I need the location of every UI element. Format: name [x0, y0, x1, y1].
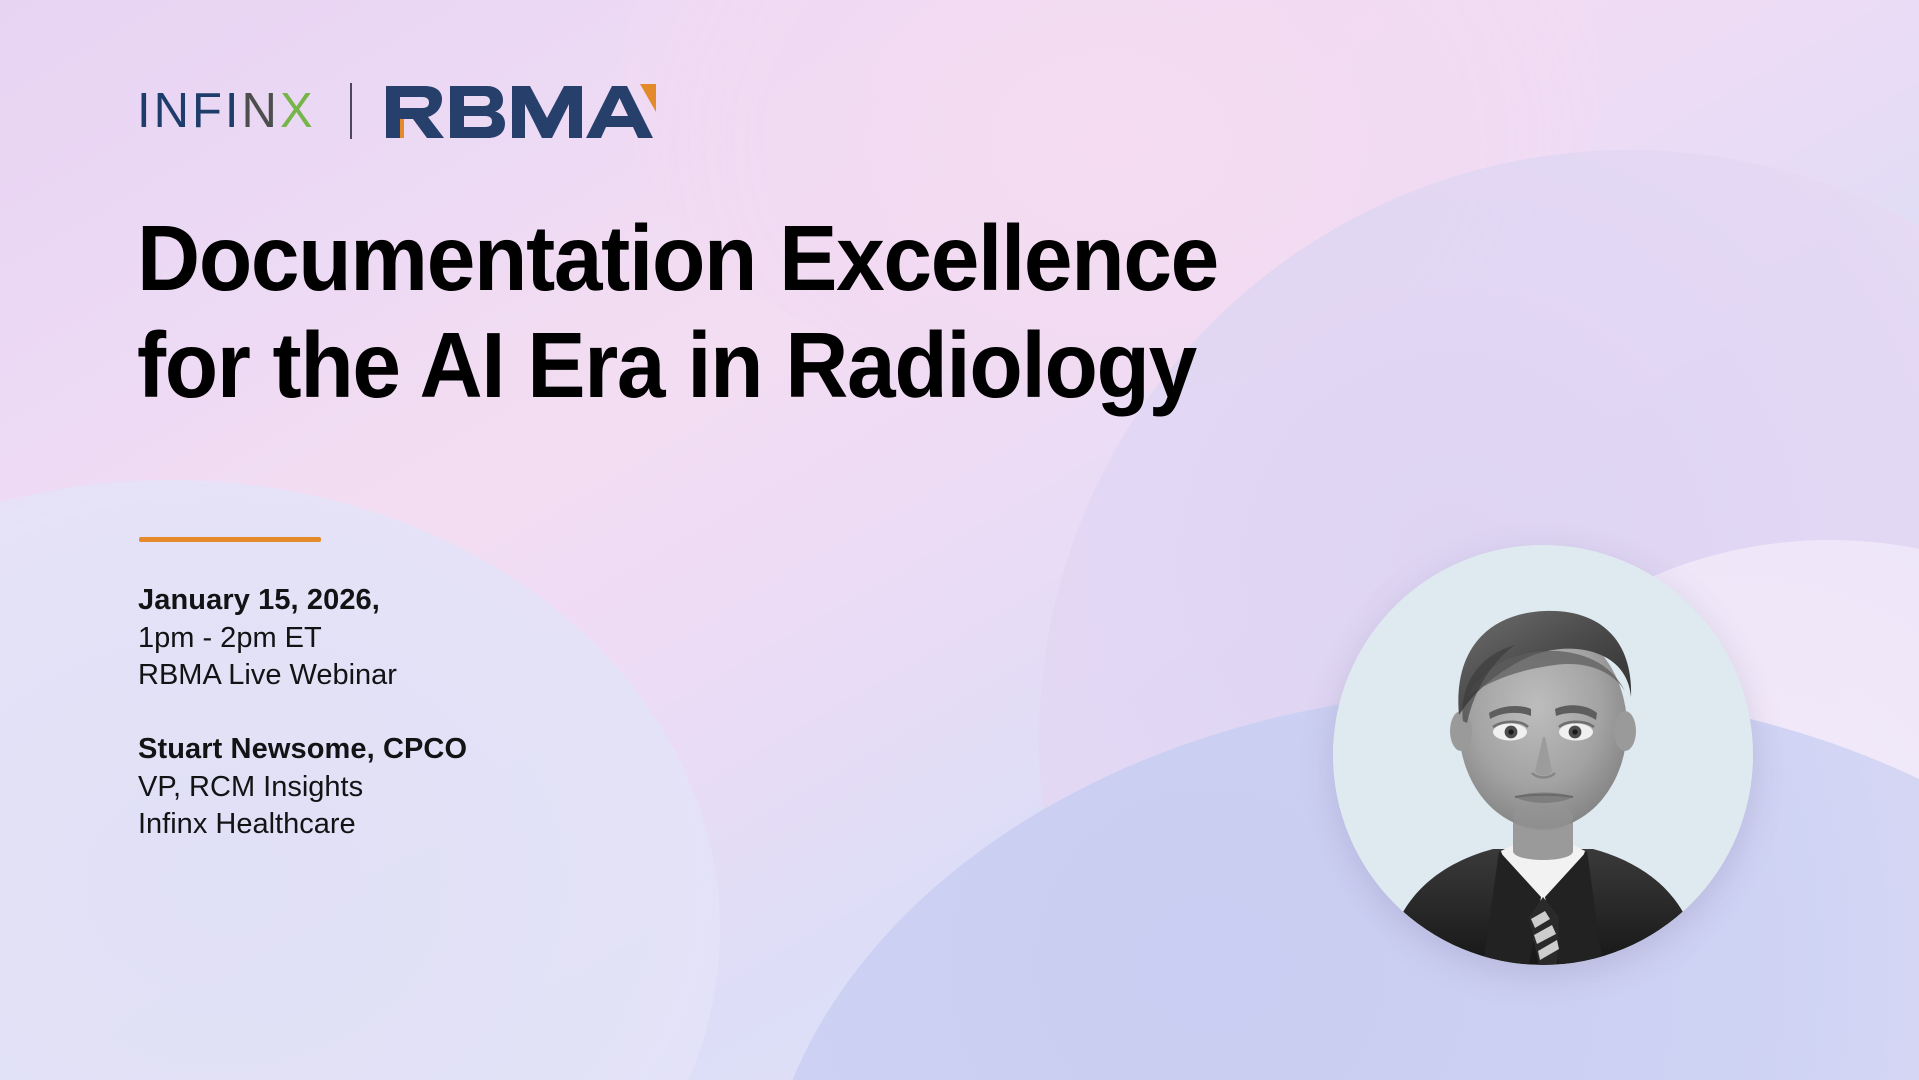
speaker-name: Stuart Newsome, CPCO — [138, 731, 467, 769]
speaker-company: Infinx Healthcare — [138, 806, 467, 844]
details-block: January 15, 2026, 1pm - 2pm ET RBMA Live… — [138, 582, 467, 844]
event-time: 1pm - 2pm ET — [138, 620, 467, 658]
accent-rule — [139, 537, 321, 542]
logo-lockup: INFINX — [137, 82, 660, 140]
promo-content: INFINX Documentation Excellence for the … — [0, 0, 1919, 1080]
rbma-logo — [382, 82, 660, 140]
page-title: Documentation Excellence for the AI Era … — [137, 205, 1472, 419]
speaker-headshot — [1333, 545, 1753, 965]
details-spacer — [138, 695, 467, 731]
infinx-logo-part-navy: INFI — [137, 84, 242, 138]
event-date: January 15, 2026, — [138, 582, 467, 620]
infinx-logo-part-green: X — [280, 84, 316, 138]
page-title-line-2: for the AI Era in Radiology — [137, 312, 1472, 419]
page-title-line-1: Documentation Excellence — [137, 205, 1472, 312]
logo-divider — [350, 83, 352, 139]
infinx-logo: INFINX — [137, 87, 316, 136]
infinx-logo-part-gray: N — [242, 84, 280, 138]
speaker-title: VP, RCM Insights — [138, 769, 467, 807]
event-format: RBMA Live Webinar — [138, 657, 467, 695]
speaker-photo — [1333, 545, 1753, 965]
